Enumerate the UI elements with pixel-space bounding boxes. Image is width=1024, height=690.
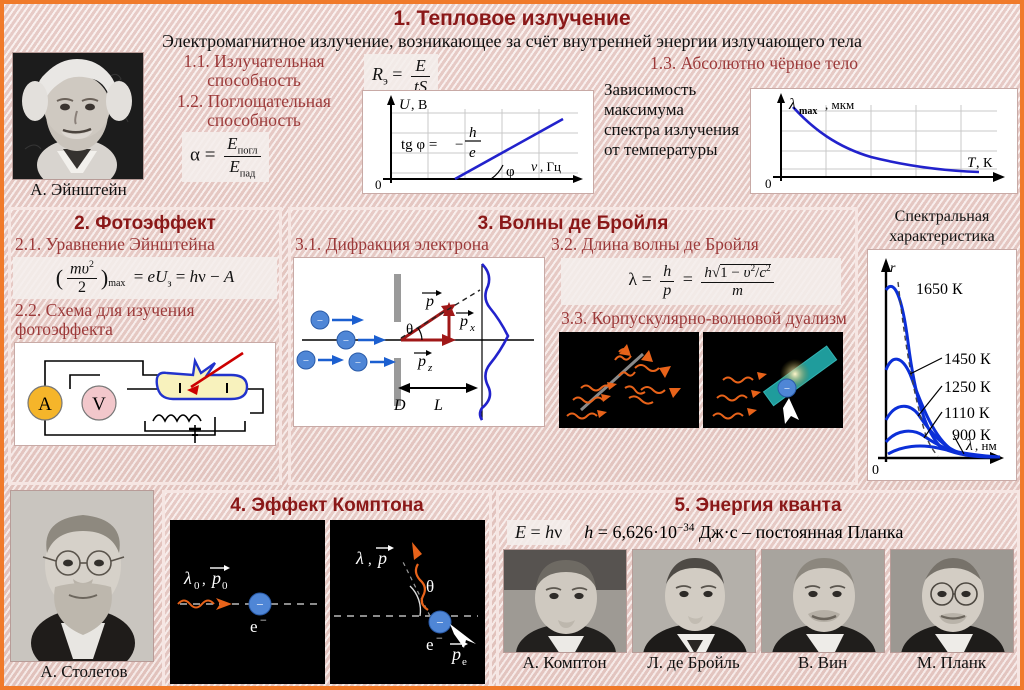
svg-text:V: V (92, 394, 106, 415)
svg-text:θ: θ (406, 322, 413, 338)
svg-text:p: p (459, 313, 468, 330)
section-5-title: 5. Энергия кванта (499, 495, 1017, 517)
svg-text:0: 0 (765, 176, 772, 191)
portrait-row: А. Комптон (499, 549, 1017, 673)
poster-root: 1. Тепловое излучение Электромагнитное и… (0, 0, 1024, 690)
svg-text:A: A (38, 394, 52, 415)
spectral-label-1650: 1650 К (916, 281, 963, 298)
svg-text:λ: λ (788, 96, 796, 113)
svg-text:−: − (303, 355, 309, 367)
caption-stoletov: А. Столетов (10, 662, 158, 682)
image-particle-nature: − (703, 332, 843, 428)
svg-text:−: − (355, 357, 361, 369)
svg-text:0: 0 (194, 580, 200, 592)
portrait-block-debroglie: Л. де Бройль (632, 549, 756, 673)
svg-text:p: p (417, 353, 426, 370)
svg-text:0: 0 (222, 580, 228, 592)
section-2-title: 2. Фотоэффект (11, 213, 279, 235)
caption-debroglie: Л. де Бройль (632, 653, 756, 673)
caption-wien: В. Вин (761, 653, 885, 673)
svg-text:, В: , В (411, 98, 427, 113)
portrait-block-planck: М. Планк (890, 549, 1014, 673)
svg-text:p: p (425, 293, 434, 310)
formula-einstein-photoeffect: ( mυ2 2 )max = eUз = hν − A (13, 257, 277, 299)
svg-text:p: p (450, 644, 461, 664)
svg-text:λ: λ (183, 568, 192, 588)
formula-de-broglie-wavelength: λ = h p = h√1 − υ2/c2 m (561, 258, 841, 305)
portrait-block-stoletov: А. Столетов (10, 490, 158, 690)
item-1-1-label: 1.1. Излучательная способность (154, 52, 354, 90)
svg-text:,: , (202, 572, 206, 588)
chart-wien-displacement: λ max , мкм 0 T , К (750, 88, 1018, 194)
section-compton-effect: 4. Эффект Комптона − λ 0 , p 0 e (162, 490, 492, 690)
caption-compton: А. Комптон (503, 653, 627, 673)
item-2-1-label: 2.1. Уравнение Эйнштейна (11, 235, 279, 254)
svg-text:z: z (427, 362, 433, 374)
diagram-compton-before: − λ 0 , p 0 e − (170, 520, 325, 684)
svg-text:e: e (426, 635, 434, 654)
svg-text:−: − (260, 613, 267, 627)
svg-text:−: − (436, 615, 443, 630)
svg-text:−: − (784, 383, 790, 395)
svg-text:x: x (469, 322, 475, 334)
diagram-electron-diffraction: − − − (293, 257, 545, 427)
svg-text:θ: θ (426, 577, 434, 596)
page-title: 1. Тепловое излучение (4, 8, 1020, 30)
section-spectral-characteristic: Спектральная характеристика r 0 λ , нм 1… (864, 207, 1020, 485)
svg-text:ν: ν (531, 160, 538, 175)
chart-stopping-voltage: U , В 0 φ ν , Гц tg φ = − h e (362, 90, 594, 194)
item-3-1-label: 3.1. Дифракция электрона (291, 235, 549, 254)
svg-text:U: U (399, 97, 411, 113)
spectral-title: Спектральная характеристика (864, 207, 1020, 247)
item-3-3-label: 3.3. Корпускулярно-волновой дуализм (549, 309, 855, 328)
chart-blackbody-spectra: r 0 λ , нм 1650 К 1450 К 1250 К 1110 К 9… (867, 249, 1017, 481)
svg-text:e: e (469, 145, 476, 161)
spectral-label-900: 900 К (952, 427, 991, 444)
section-4-title: 4. Эффект Комптона (165, 495, 489, 517)
portrait-compton (503, 549, 627, 653)
svg-text:0: 0 (872, 463, 879, 478)
item-1-2-label: 1.2. Поглощательная способность (154, 92, 354, 130)
svg-text:, К: , К (976, 156, 993, 171)
svg-text:D: D (393, 397, 406, 414)
svg-text:, мкм: , мкм (825, 97, 854, 112)
svg-text:0: 0 (375, 177, 382, 192)
diagram-compton-after: θ − λ , p e − p e (330, 520, 485, 684)
svg-text:r: r (890, 261, 896, 276)
svg-text:tg φ =: tg φ = (401, 137, 437, 153)
svg-text:p: p (210, 568, 221, 588)
svg-text:−: − (343, 335, 349, 347)
section-de-broglie: 3. Волны де Бройля 3.1. Дифракция электр… (288, 207, 858, 485)
svg-text:p: p (376, 548, 387, 568)
formula-quantum-energy: E = hν (507, 520, 570, 545)
svg-text:−: − (436, 631, 443, 645)
portrait-einstein (12, 52, 144, 180)
svg-text:L: L (433, 397, 443, 414)
dependency-text: Зависимость максимума спектра излучения … (604, 80, 744, 160)
caption-planck: М. Планк (890, 653, 1014, 673)
svg-text:−: − (317, 315, 323, 327)
portrait-stoletov (10, 490, 154, 662)
portrait-debroglie (632, 549, 756, 653)
svg-text:φ: φ (506, 164, 515, 180)
section-photoeffect: 2. Фотоэффект 2.1. Уравнение Эйнштейна (… (8, 207, 282, 485)
section-quantum-energy: 5. Энергия кванта E = hν h = 6,626·10−34… (496, 490, 1020, 690)
page-subtitle: Электромагнитное излучение, возникающее … (4, 31, 1020, 52)
item-1-3-label: 1.3. Абсолютно чёрное тело (604, 54, 904, 73)
svg-text:,: , (368, 552, 372, 568)
svg-text:−: − (256, 597, 263, 612)
portrait-block-compton: А. Комптон (503, 549, 627, 673)
portrait-wien (761, 549, 885, 653)
section-3-title: 3. Волны де Бройля (291, 213, 855, 235)
formula-absorptivity: α = Eпогл Eпад (182, 132, 269, 182)
svg-text:max: max (799, 106, 817, 117)
caption-einstein: А. Эйнштейн (6, 180, 151, 200)
svg-text:λ: λ (355, 548, 364, 568)
spectral-label-1110: 1110 К (944, 405, 990, 422)
svg-text:e: e (462, 656, 467, 668)
planck-constant-text: h = 6,626·10−34 Дж·с – постоянная Планка (584, 522, 903, 543)
portrait-block-wien: В. Вин (761, 549, 885, 673)
image-wave-nature (559, 332, 699, 428)
spectral-label-1450: 1450 К (944, 351, 991, 368)
portrait-planck (890, 549, 1014, 653)
item-2-2-label: 2.2. Схема для изучения фотоэффекта (11, 301, 279, 339)
svg-text:−: − (455, 137, 463, 153)
svg-text:e: e (250, 617, 258, 636)
svg-text:h: h (469, 125, 477, 141)
item-3-2-label: 3.2. Длина волны де Бройля (549, 235, 855, 254)
diagram-photoeffect-circuit: A V (14, 342, 276, 446)
svg-text:, Гц: , Гц (540, 159, 561, 174)
spectral-label-1250: 1250 К (944, 379, 991, 396)
